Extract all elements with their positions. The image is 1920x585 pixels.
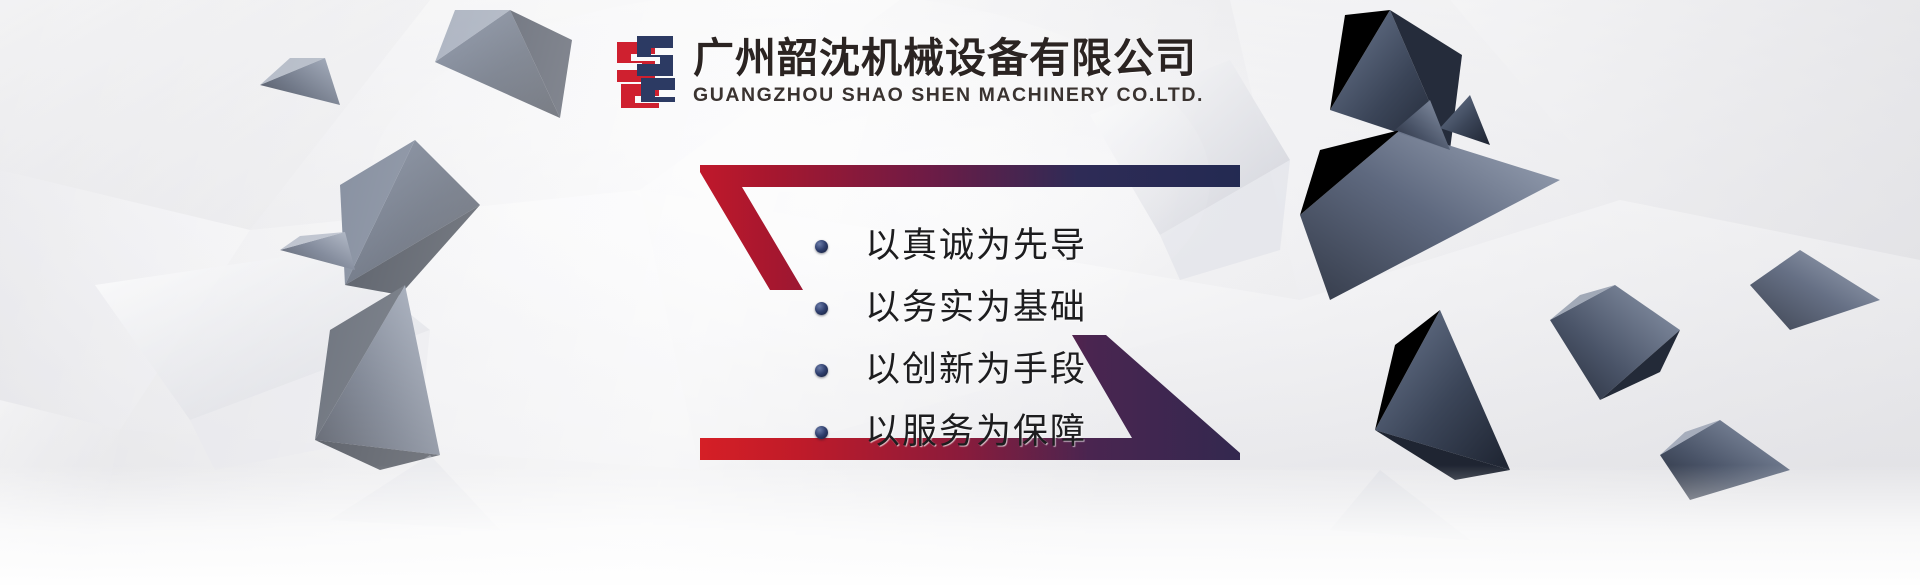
list-item: 以创新为手段 [815, 339, 1235, 401]
ss-monogram-logo-icon [615, 34, 677, 108]
company-slogan-list: 以真诚为先导 以务实为基础 以创新为手段 以服务为保障 [815, 215, 1235, 463]
company-name-en: GUANGZHOU SHAO SHEN MACHINERY CO.LTD. [693, 83, 1204, 107]
slogan-text: 以创新为手段 [865, 350, 1087, 390]
bullet-dot-icon [815, 364, 828, 377]
list-item: 以务实为基础 [815, 277, 1235, 339]
list-item: 以真诚为先导 [815, 215, 1235, 277]
background-floor-fade [0, 465, 1920, 585]
bullet-dot-icon [815, 302, 828, 315]
bullet-dot-icon [815, 240, 828, 253]
bullet-dot-icon [815, 426, 828, 439]
company-culture-banner: 广州韶沈机械设备有限公司 GUANGZHOU SHAO SHEN MACHINE… [0, 0, 1920, 585]
company-name-cn: 广州韶沈机械设备有限公司 [693, 36, 1204, 80]
slogan-text: 以真诚为先导 [865, 226, 1087, 266]
company-name-group: 广州韶沈机械设备有限公司 GUANGZHOU SHAO SHEN MACHINE… [693, 34, 1204, 107]
company-logo-block: 广州韶沈机械设备有限公司 GUANGZHOU SHAO SHEN MACHINE… [615, 34, 1204, 112]
list-item: 以服务为保障 [815, 401, 1235, 463]
slogan-text: 以务实为基础 [865, 288, 1087, 328]
slogan-text: 以服务为保障 [865, 412, 1087, 452]
